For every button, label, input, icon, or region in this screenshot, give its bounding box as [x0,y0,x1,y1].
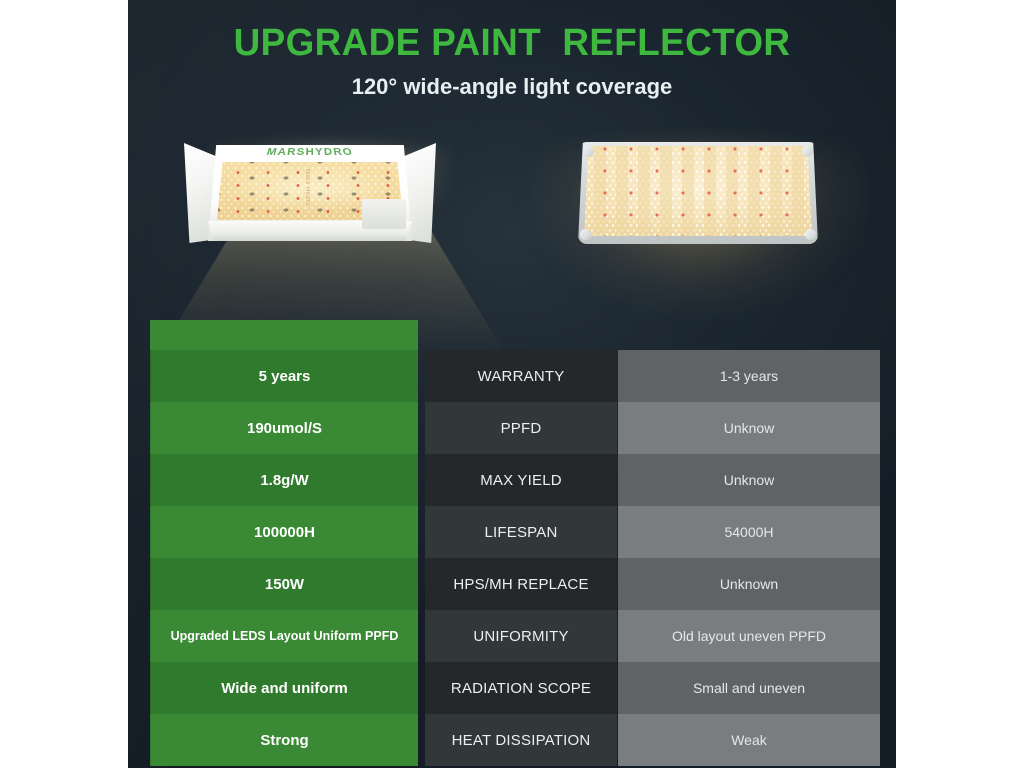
dark-canvas: UPGRADE PAINT REFLECTOR 120° wide-angle … [128,0,896,768]
table-row: UNIFORMITY [425,610,617,662]
column-feature-names: WARRANTYPPFDMAX YIELDLIFESPANHPS/MH REPL… [425,350,617,766]
left-panel-side-text: Mars Hydro [304,169,310,206]
table-row: RADIATION SCOPE [425,662,617,714]
right-panel-corner-icon [805,229,816,240]
table-row: HPS/MH REPLACE [425,558,617,610]
table-row: Small and uneven [618,662,880,714]
table-row: Upgraded LEDS Layout Uniform PPFD [150,610,418,662]
table-row: 5 years [150,350,418,402]
column-our-product: 5 years190umol/S1.8g/W100000H150WUpgrade… [150,320,418,766]
our-product-column-header [150,320,418,350]
column-other-product: 1-3 yearsUnknowUnknow54000HUnknownOld la… [618,350,880,766]
table-row: PPFD [425,402,617,454]
page-subtitle: 120° wide-angle light coverage [128,74,896,100]
infographic-root: UPGRADE PAINT REFLECTOR 120° wide-angle … [0,0,1024,768]
right-panel-corner-icon [802,146,813,157]
table-row: 190umol/S [150,402,418,454]
page-title: UPGRADE PAINT REFLECTOR [140,22,885,65]
table-row: 100000H [150,506,418,558]
table-row: Wide and uniform [150,662,418,714]
right-panel-corner-icon [583,146,594,157]
brand-logo: MARSHYDRO [200,147,420,158]
table-row: LIFESPAN [425,506,617,558]
table-row: Old layout uneven PPFD [618,610,880,662]
table-row: Strong [150,714,418,766]
table-row: Unknow [618,402,880,454]
comparison-table: 5 years190umol/S1.8g/W100000H150WUpgrade… [128,0,896,768]
right-red-diodes-icon [584,146,812,236]
table-row: HEAT DISSIPATION [425,714,617,766]
table-row: 1.8g/W [150,454,418,506]
table-row: Weak [618,714,880,766]
table-row: 1-3 years [618,350,880,402]
table-row: WARRANTY [425,350,617,402]
right-diode-array [584,146,812,236]
table-row: Unknown [618,558,880,610]
table-row: Unknow [618,454,880,506]
right-panel-corner-icon [580,229,591,240]
table-row: 54000H [618,506,880,558]
table-row: MAX YIELD [425,454,617,506]
right-product-image [578,142,818,244]
left-driver-box-icon [362,199,406,229]
table-row: 150W [150,558,418,610]
left-product-image: MARSHYDRO Mars Hydro [184,143,436,243]
